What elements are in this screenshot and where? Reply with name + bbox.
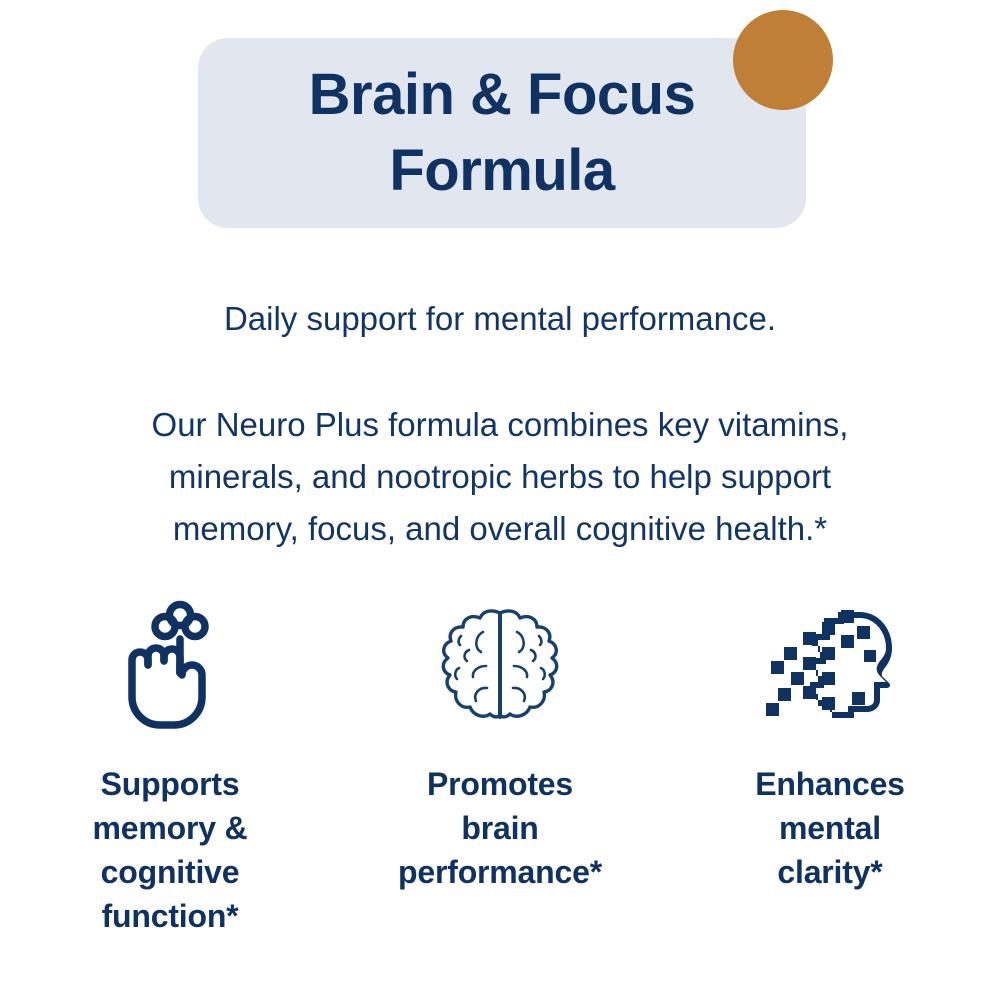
product-description: Our Neuro Plus formula combines key vita… (72, 399, 928, 555)
tagline: Daily support for mental performance. (0, 297, 1000, 341)
page-title-line-2: Formula (389, 133, 614, 209)
benefit-label-clarity: Enhances mental clarity* (755, 762, 905, 894)
benefits-row: Supports memory & cognitive function* (0, 600, 1000, 960)
page-title: Brain & Focus Formula (198, 38, 806, 228)
benefit-label-line: Enhances (755, 762, 905, 806)
benefit-label-line: performance* (398, 850, 602, 894)
brain-icon (439, 600, 561, 730)
benefit-label-line: brain (398, 806, 602, 850)
benefit-label-line: mental (755, 806, 905, 850)
benefit-label-line: cognitive (93, 850, 248, 894)
benefit-label-line: function* (93, 894, 248, 938)
pixelated-head-profile-icon (762, 600, 898, 730)
description-line: Our Neuro Plus formula combines key vita… (72, 399, 928, 451)
benefit-label-brain: Promotes brain performance* (398, 762, 602, 894)
benefit-label-line: clarity* (755, 850, 905, 894)
description-line: minerals, and nootropic herbs to help su… (72, 451, 928, 503)
description-line: memory, focus, and overall cognitive hea… (72, 503, 928, 555)
benefit-label-memory: Supports memory & cognitive function* (93, 762, 248, 938)
benefit-item-clarity: Enhances mental clarity* (665, 600, 995, 894)
finger-with-string-bow-icon (116, 600, 224, 730)
header-zone: Brain & Focus Formula (0, 0, 1000, 240)
benefit-label-line: memory & (93, 806, 248, 850)
benefit-item-memory: Supports memory & cognitive function* (5, 600, 335, 938)
benefit-label-line: Promotes (398, 762, 602, 806)
product-info-card: Brain & Focus Formula Daily support for … (0, 0, 1000, 1000)
benefit-item-brain: Promotes brain performance* (335, 600, 665, 894)
benefit-label-line: Supports (93, 762, 248, 806)
page-title-line-1: Brain & Focus (309, 57, 696, 133)
